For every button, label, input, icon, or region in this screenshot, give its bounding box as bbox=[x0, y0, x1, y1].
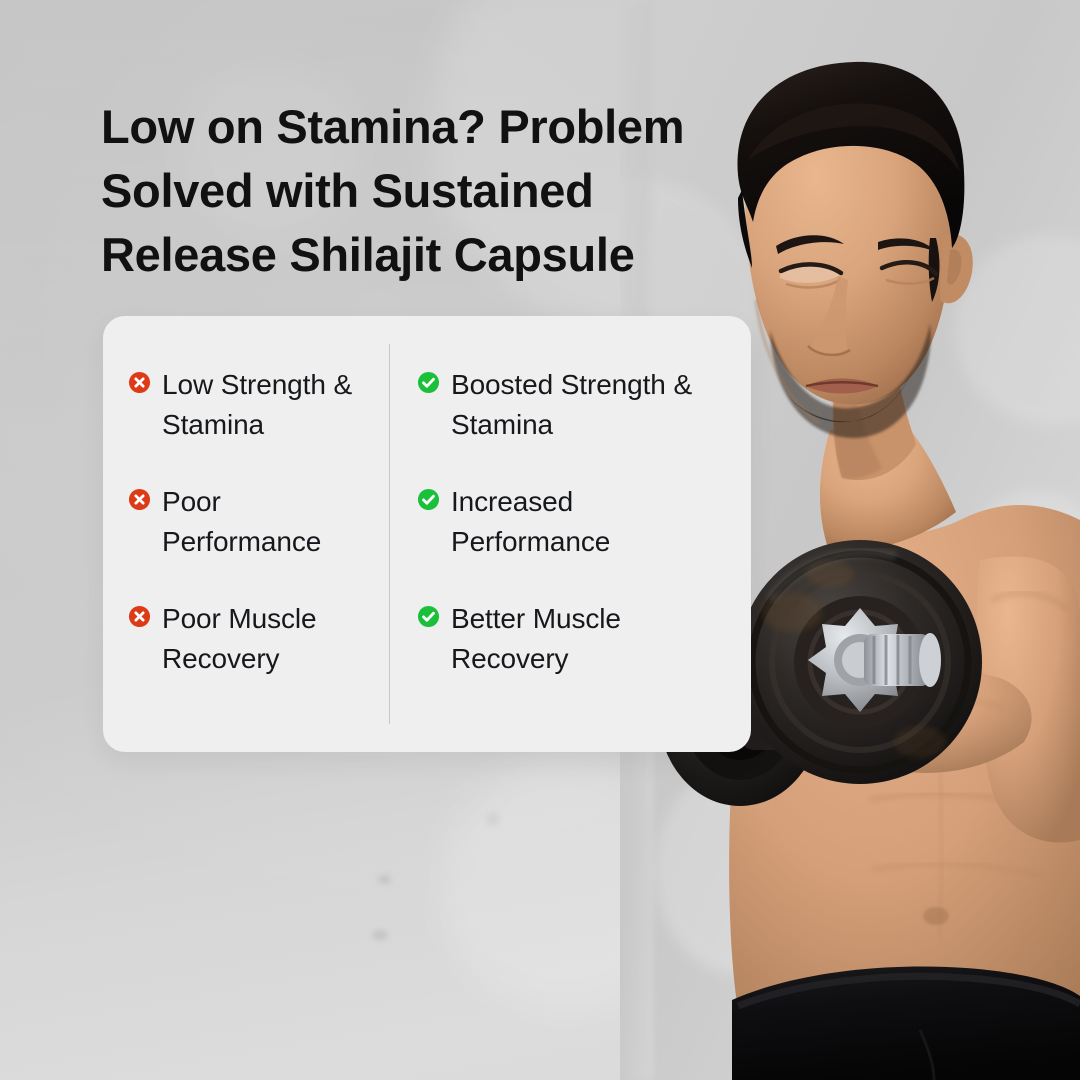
list-item: Poor Muscle Recovery bbox=[128, 599, 389, 679]
problems-column: Low Strength & Stamina Poor Performance … bbox=[103, 316, 389, 752]
list-item: Increased Performance bbox=[417, 482, 751, 562]
problem-label: Poor Performance bbox=[162, 482, 362, 562]
benefit-label: Increased Performance bbox=[451, 482, 721, 562]
check-circle-icon bbox=[417, 605, 440, 628]
headline-line-3: Release Shilajit Capsule bbox=[101, 223, 791, 287]
list-item: Boosted Strength & Stamina bbox=[417, 365, 751, 445]
cross-circle-icon bbox=[128, 488, 151, 511]
benefit-label: Better Muscle Recovery bbox=[451, 599, 721, 679]
check-circle-icon bbox=[417, 371, 440, 394]
page-title: Low on Stamina? Problem Solved with Sust… bbox=[101, 95, 791, 287]
cross-circle-icon bbox=[128, 371, 151, 394]
list-item: Better Muscle Recovery bbox=[417, 599, 751, 679]
problem-label: Low Strength & Stamina bbox=[162, 365, 362, 445]
cross-circle-icon bbox=[128, 605, 151, 628]
benefits-column: Boosted Strength & Stamina Increased Per… bbox=[389, 316, 751, 752]
list-item: Poor Performance bbox=[128, 482, 389, 562]
problem-label: Poor Muscle Recovery bbox=[162, 599, 362, 679]
check-circle-icon bbox=[417, 488, 440, 511]
benefit-label: Boosted Strength & Stamina bbox=[451, 365, 721, 445]
headline-line-2: Solved with Sustained bbox=[101, 159, 791, 223]
comparison-card: Low Strength & Stamina Poor Performance … bbox=[103, 316, 751, 752]
list-item: Low Strength & Stamina bbox=[128, 365, 389, 445]
headline-line-1: Low on Stamina? Problem bbox=[101, 95, 791, 159]
